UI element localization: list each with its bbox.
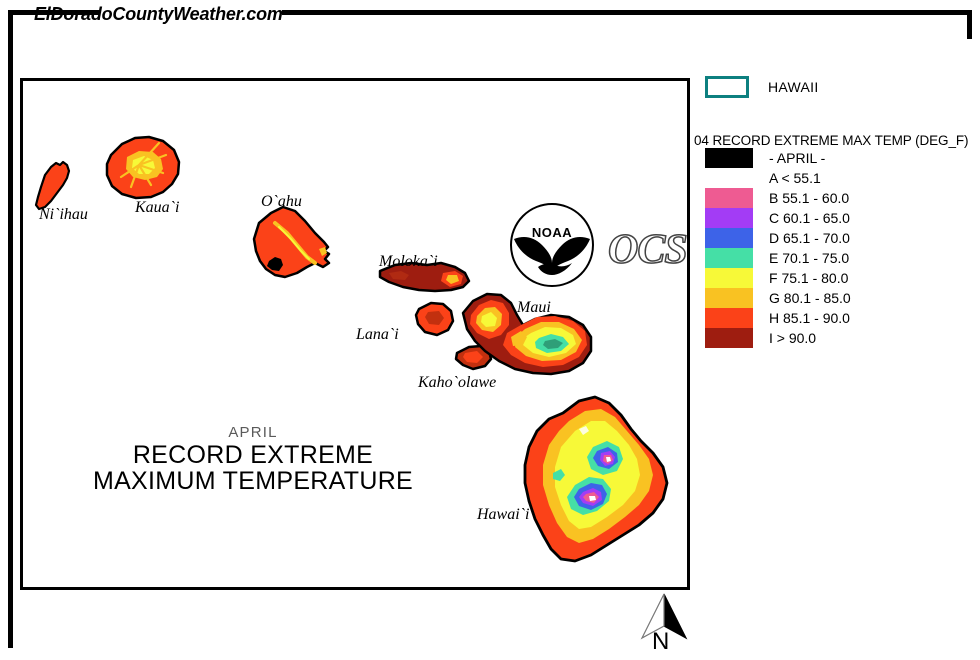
- map-title-month: APRIL: [23, 425, 483, 441]
- frame-top-left-segment: [8, 10, 30, 15]
- island-lanai: [416, 303, 453, 335]
- legend-row-class-b: B 55.1 - 60.0: [705, 188, 851, 208]
- legend-label-a: A < 55.1: [769, 170, 821, 186]
- island-oahu: [254, 207, 329, 277]
- legend-label-d: D 65.1 - 70.0: [769, 230, 850, 246]
- legend-row-class-e: E 70.1 - 75.0: [705, 248, 851, 268]
- frame-top-right-segment: [282, 10, 972, 15]
- legend-label-c: C 60.1 - 65.0: [769, 210, 850, 226]
- island-kauai: [107, 137, 179, 198]
- map-title-block: APRIL RECORD EXTREME MAXIMUM TEMPERATURE: [23, 425, 483, 494]
- legend-label-f: F 75.1 - 80.0: [769, 270, 848, 286]
- island-label-molokai: Moloka`i: [379, 253, 438, 271]
- legend-hawaii-label: HAWAII: [768, 79, 819, 95]
- island-label-niihau: Ni`ihau: [39, 206, 88, 224]
- legend-swatch-h: [705, 308, 753, 328]
- island-niihau: [36, 162, 69, 209]
- island-label-oahu: O`ahu: [261, 193, 302, 211]
- legend-swatch-nodata: [705, 148, 753, 168]
- legend-row-class-h: H 85.1 - 90.0: [705, 308, 851, 328]
- legend-row-class-c: C 60.1 - 65.0: [705, 208, 851, 228]
- map-title-line1: RECORD EXTREME: [23, 442, 483, 468]
- legend-hawaii-row: HAWAII: [705, 76, 819, 98]
- legend-swatch-c: [705, 208, 753, 228]
- legend-swatch-e: [705, 248, 753, 268]
- island-label-kahoolawe: Kaho`olawe: [418, 374, 496, 392]
- legend-row-class-f: F 75.1 - 80.0: [705, 268, 851, 288]
- legend-label-h: H 85.1 - 90.0: [769, 310, 850, 326]
- map-title-line2: MAXIMUM TEMPERATURE: [23, 468, 483, 494]
- map-panel: Ni`ihau Kaua`i O`ahu Moloka`i Maui Lana`…: [20, 78, 690, 590]
- island-label-kauai: Kaua`i: [135, 199, 179, 217]
- legend-row-class-a: A < 55.1: [705, 168, 851, 188]
- legend-row-class-i: I > 90.0: [705, 328, 851, 348]
- ocs-logo: OCS: [608, 226, 687, 274]
- hawaii-island-map: [23, 81, 687, 587]
- island-label-lanai: Lana`i: [356, 326, 399, 344]
- legend-row-subtitle: - APRIL -: [705, 148, 851, 168]
- noaa-logo: NOAA: [508, 201, 596, 294]
- legend-hawaii-swatch: [705, 76, 749, 98]
- legend-class-list: - APRIL - A < 55.1 B 55.1 - 60.0 C 60.1 …: [705, 148, 851, 348]
- island-hawaii-big: [525, 397, 667, 561]
- frame-right-segment: [967, 10, 972, 39]
- noaa-logo-text: NOAA: [532, 225, 572, 240]
- legend-label-g: G 80.1 - 85.0: [769, 290, 851, 306]
- legend-swatch-d: [705, 228, 753, 248]
- legend-swatch-f: [705, 268, 753, 288]
- legend-swatch-b: [705, 188, 753, 208]
- legend-row-class-d: D 65.1 - 70.0: [705, 228, 851, 248]
- island-label-maui: Maui: [517, 299, 551, 317]
- legend-label-e: E 70.1 - 75.0: [769, 250, 849, 266]
- legend-subtitle: - APRIL -: [769, 150, 825, 166]
- legend-swatch-g: [705, 288, 753, 308]
- legend-header: 04 RECORD EXTREME MAX TEMP (DEG_F): [694, 133, 968, 148]
- site-title: ElDoradoCountyWeather.com: [34, 4, 283, 25]
- legend-label-b: B 55.1 - 60.0: [769, 190, 849, 206]
- island-label-hawaii: Hawai`i: [477, 506, 529, 524]
- legend-swatch-i: [705, 328, 753, 348]
- north-arrow-label: N: [652, 628, 669, 656]
- legend-label-i: I > 90.0: [769, 330, 816, 346]
- legend-row-class-g: G 80.1 - 85.0: [705, 288, 851, 308]
